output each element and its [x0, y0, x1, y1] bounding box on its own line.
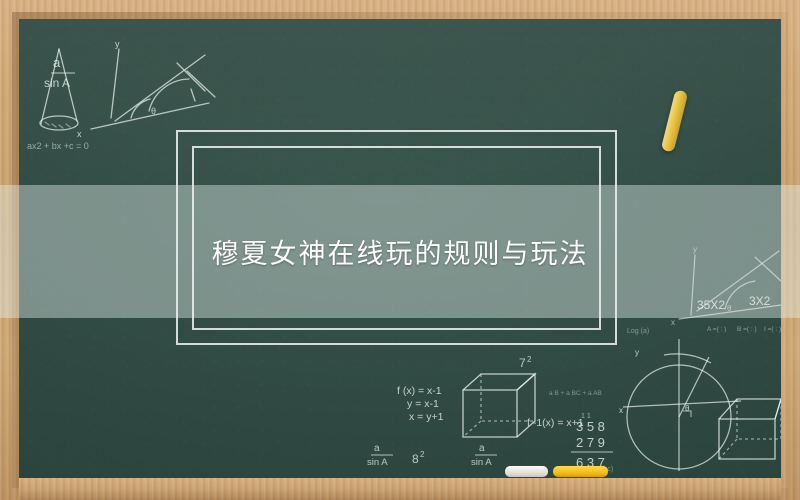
bottom-center-misc-labels: 7 2 a B + a BC + a AB a sin A 8 2 a sin … — [367, 355, 602, 468]
tl-axis-x-label: x — [77, 129, 82, 139]
title-overlay-band: 穆夏女神在线玩的规则与玩法 — [0, 185, 800, 318]
tl-fraction-numerator: a — [53, 55, 61, 70]
bc-fraction-denominator: sin A — [367, 457, 388, 468]
tl-fraction-denominator: sin A — [44, 76, 70, 90]
bc-fraction2-denominator: sin A — [471, 457, 492, 468]
tl-axis-y-label: y — [115, 39, 120, 49]
right-matrix-b: B =( : ) — [737, 326, 757, 333]
cone-base-hatching — [45, 122, 70, 128]
right-log-left: Log (a) — [627, 328, 649, 335]
bc-seven-exponent: 2 — [527, 355, 532, 364]
addition-bottom-row: 2 7 9 — [576, 435, 605, 450]
right-axis-y-label: y — [635, 348, 639, 357]
bottom-center-function-labels: f (x) = x-1 y = x-1 x = y+1 — [397, 385, 444, 423]
addition-top-row: 3 5 8 — [576, 419, 605, 434]
bc-expression-ab: a B + a BC + a AB — [549, 390, 602, 397]
white-chalk-stick[interactable] — [505, 466, 548, 477]
right-circle-diagram-group — [623, 339, 741, 471]
bc-function-line-3: x = y+1 — [409, 411, 444, 423]
tl-ray — [115, 55, 205, 121]
tl-y-axis — [111, 49, 119, 118]
cube-hidden-diagonal — [463, 421, 481, 437]
right-angle-label: θ — [685, 404, 690, 413]
circle-x-axis — [623, 401, 741, 407]
tl-quadratic-equation: ax2 + bx +c = 0 — [27, 141, 89, 151]
right-cube-group — [719, 399, 781, 459]
bottom-cube-group — [463, 374, 535, 437]
right-cube-right-edge — [775, 399, 781, 419]
right-matrix-a: A =( : ) — [707, 326, 726, 333]
right-cube-hidden-diagonal — [719, 439, 737, 459]
tl-angle-label: θ — [151, 106, 156, 116]
bc-eight-exponent: 2 — [420, 450, 425, 459]
bc-function-line-1: f (x) = x-1 — [397, 385, 442, 397]
yellow-chalk-stick[interactable] — [553, 466, 608, 477]
page-title: 穆夏女神在线玩的规则与玩法 — [212, 232, 589, 271]
bc-function-line-2: y = x-1 — [407, 398, 439, 410]
circle-radius-ray — [679, 357, 709, 417]
bc-fraction-numerator: a — [374, 443, 380, 454]
right-axis-x-label: x — [619, 406, 623, 415]
tl-cross-3 — [177, 63, 205, 91]
tr-axis-x-label: x — [671, 318, 675, 327]
right-matrix-i: I =( : ) — [764, 326, 781, 333]
bc-eight: 8 — [412, 452, 419, 466]
bc-fraction2-numerator: a — [479, 443, 485, 454]
bc-seven: 7 — [519, 356, 526, 370]
top-left-labels: a sin A y x θ ax2 + bx +c = 0 — [27, 39, 156, 151]
chalkboard-screenshot: a sin A y x θ ax2 + bx +c = 0 — [0, 0, 800, 500]
chalk-tray — [19, 478, 781, 500]
cube-top-face — [463, 374, 535, 390]
circle-top-arc — [664, 354, 711, 363]
